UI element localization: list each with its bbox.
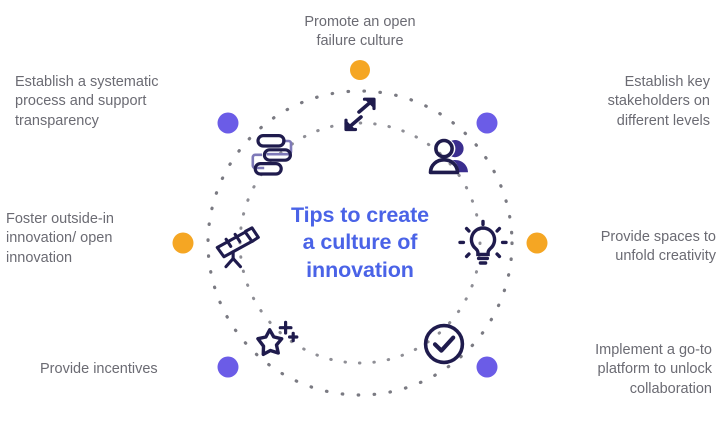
expand-arrows-icon (336, 93, 384, 137)
users-icon (425, 131, 479, 179)
node-dot-establish-systematic-process[interactable] (218, 113, 239, 134)
node-dot-implement-go-to-platform[interactable] (477, 357, 498, 378)
node-dot-provide-incentives[interactable] (218, 357, 239, 378)
users-icon-holder (424, 127, 480, 183)
label-provide-spaces-creativity: Provide spaces to unfold creativity (556, 228, 716, 267)
label-promote-failure-culture: Promote an open failure culture (270, 13, 450, 52)
process-flow-icon-holder (244, 127, 300, 183)
label-establish-key-stakeholders: Establish key stakeholders on different … (520, 73, 710, 131)
label-establish-systematic-process: Establish a systematic process and suppo… (15, 73, 217, 131)
node-dot-promote-failure-culture[interactable] (350, 60, 370, 80)
star-sparkle-icon (244, 317, 300, 371)
process-flow-icon (244, 129, 300, 181)
star-sparkle-icon-holder (244, 316, 300, 372)
node-dot-provide-spaces-creativity[interactable] (527, 233, 548, 254)
label-provide-incentives: Provide incentives (40, 360, 212, 379)
node-dot-foster-outside-in-innovation[interactable] (173, 233, 194, 254)
label-implement-go-to-platform: Implement a go-to platform to unlock col… (522, 341, 712, 399)
check-circle-icon-holder (416, 316, 472, 372)
check-circle-icon (419, 319, 469, 369)
infographic-canvas: Promote an open failure culture Establis… (0, 0, 720, 431)
label-foster-outside-in-innovation: Foster outside-in innovation/ open innov… (6, 210, 167, 268)
expand-arrows-icon-holder (332, 87, 388, 143)
center-title: Tips to create a culture of innovation (254, 202, 466, 284)
